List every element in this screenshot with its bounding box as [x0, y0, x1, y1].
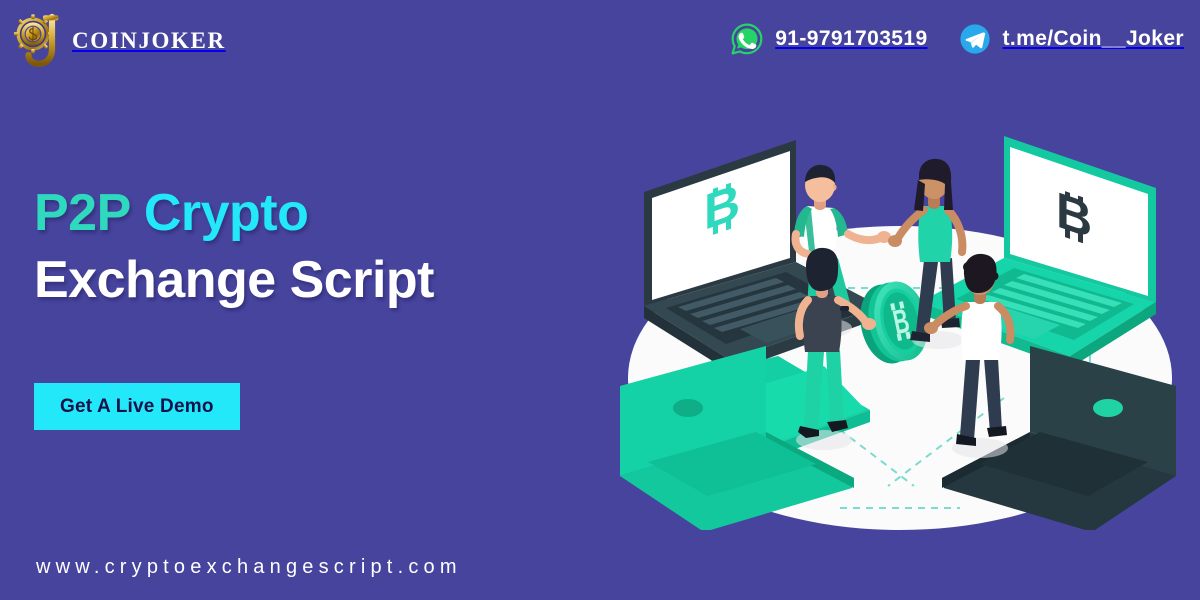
telegram-handle: t.me/Coin__Joker — [1003, 27, 1184, 51]
isometric-p2p-crypto-exchange-scene-icon: B — [608, 110, 1188, 530]
coinjoker-gold-coin-logo-icon — [14, 12, 64, 70]
brand-logo[interactable]: COINJOKER — [14, 12, 226, 70]
whatsapp-icon — [730, 22, 764, 56]
website-url: www.cryptoexchangescript.com — [36, 556, 462, 579]
contact-whatsapp[interactable]: 91-9791703519 — [730, 22, 927, 56]
hero-copy: P2P Crypto Exchange Script — [34, 180, 574, 313]
contact-telegram[interactable]: t.me/Coin__Joker — [958, 22, 1184, 56]
brand-name: COINJOKER — [72, 28, 226, 54]
header-contacts: 91-9791703519 t.me/Coin__Joker — [730, 22, 1184, 56]
telegram-icon — [958, 22, 992, 56]
laptop-lid-logo-bottom-right — [1093, 399, 1123, 417]
hero-banner: COINJOKER 91-9791703519 t.me/Coin__Joker — [0, 0, 1200, 600]
page-header: COINJOKER 91-9791703519 t.me/Coin__Joker — [0, 0, 1200, 88]
headline-crypto: Crypto — [144, 184, 309, 242]
headline-exchange-script: Exchange Script — [34, 247, 574, 314]
hero-illustration: B — [608, 110, 1188, 530]
get-a-live-demo-button[interactable]: Get A Live Demo — [34, 383, 240, 430]
headline-p2p: P2P — [34, 184, 130, 242]
whatsapp-number: 91-9791703519 — [775, 27, 927, 51]
page-title: P2P Crypto Exchange Script — [34, 180, 574, 313]
